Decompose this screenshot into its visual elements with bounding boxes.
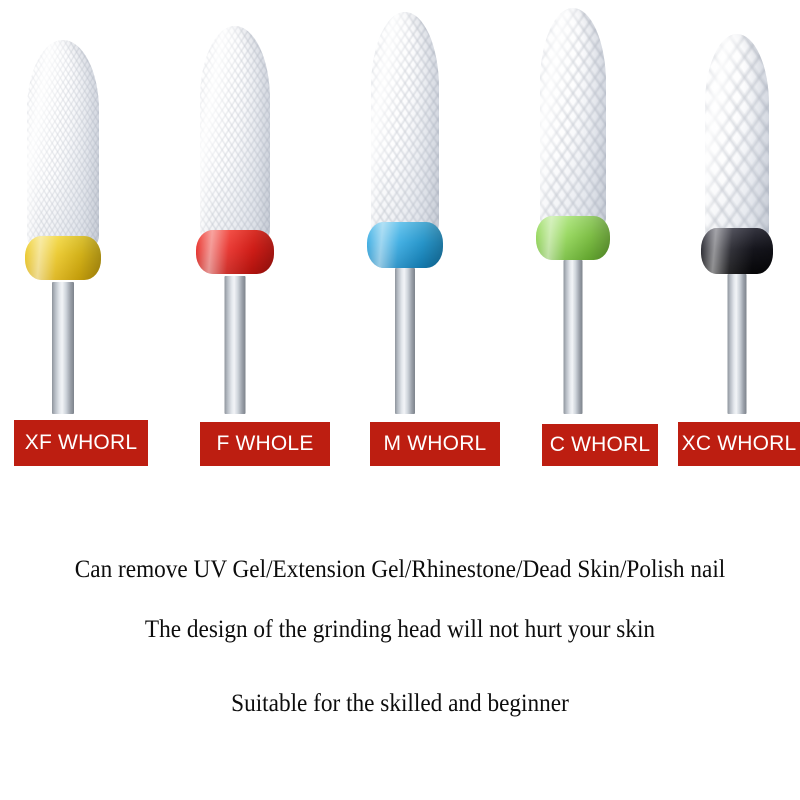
grit-label-xf: XF WHORL bbox=[14, 420, 148, 466]
grit-label-xc: XC WHORL bbox=[678, 422, 800, 466]
marketing-line-1: Can remove UV Gel/Extension Gel/Rhinesto… bbox=[28, 556, 772, 584]
product-image: XF WHORL F WHOLE M WHORL C WHORL XC WHOR… bbox=[0, 0, 800, 800]
grit-label-m: M WHORL bbox=[370, 422, 500, 466]
grit-label-f: F WHOLE bbox=[200, 422, 330, 466]
marketing-line-2: The design of the grinding head will not… bbox=[28, 616, 772, 644]
marketing-line-3: Suitable for the skilled and beginner bbox=[28, 690, 772, 718]
grit-label-c: C WHORL bbox=[542, 424, 658, 466]
grit-labels-row: XF WHORL F WHOLE M WHORL C WHORL XC WHOR… bbox=[0, 0, 800, 800]
